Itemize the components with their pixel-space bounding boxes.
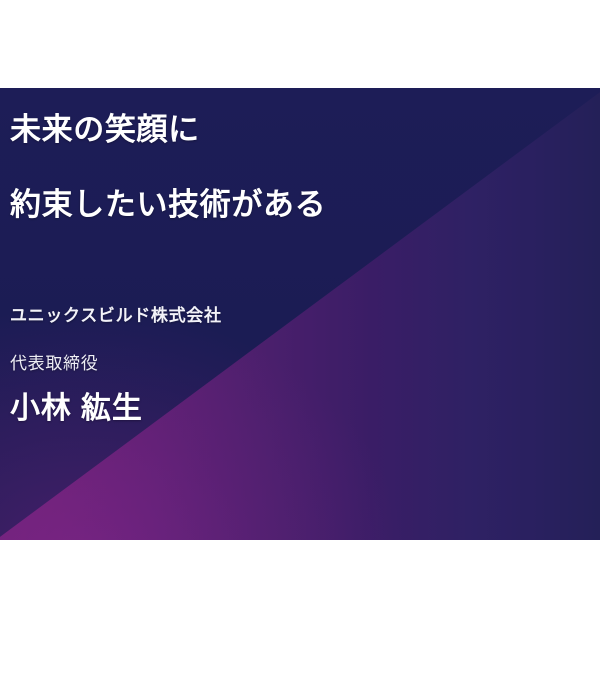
hero-banner: 未来の笑顔に 約束したい技術がある ユニックスビルド株式会社 代表取締役 小林 … bbox=[0, 88, 600, 540]
person-name: 小林 紘生 bbox=[10, 391, 570, 427]
hero-content: 未来の笑顔に 約束したい技術がある ユニックスビルド株式会社 代表取締役 小林 … bbox=[10, 88, 570, 540]
headline-line-2: 約束したい技術がある bbox=[10, 187, 570, 224]
company-name: ユニックスビルド株式会社 bbox=[10, 306, 570, 326]
job-title: 代表取締役 bbox=[10, 354, 570, 374]
identity-block: ユニックスビルド株式会社 代表取締役 小林 紘生 bbox=[10, 306, 570, 427]
headline-block: 未来の笑顔に 約束したい技術がある bbox=[10, 112, 570, 223]
page-root: 未来の笑顔に 約束したい技術がある ユニックスビルド株式会社 代表取締役 小林 … bbox=[0, 0, 600, 693]
top-whitespace bbox=[0, 0, 600, 88]
headline-line-1: 未来の笑顔に bbox=[10, 112, 570, 149]
bottom-whitespace bbox=[0, 540, 600, 693]
